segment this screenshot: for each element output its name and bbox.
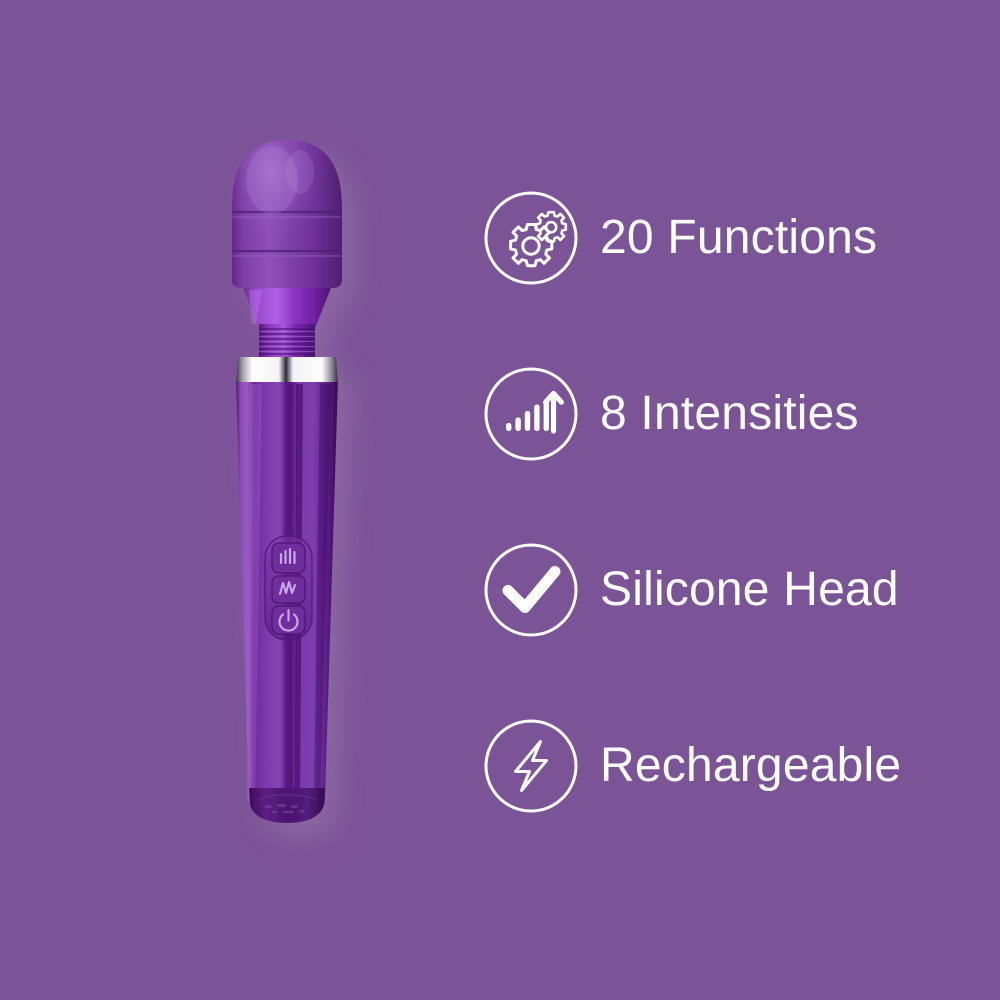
feature-label: Rechargeable: [600, 741, 901, 791]
wand-illustration: [0, 0, 560, 1000]
feature-label: 8 Intensities: [600, 389, 859, 439]
check-icon: [484, 543, 578, 637]
feature-item-rechargeable: Rechargeable: [484, 678, 984, 854]
feature-item-silicone-head: Silicone Head: [484, 502, 984, 678]
product-infographic: 20 Functions 8 Intensities: [0, 0, 1000, 1000]
lightning-bolt-icon: [484, 719, 578, 813]
control-panel: [265, 536, 312, 640]
mode-button: [272, 576, 305, 603]
intensity-button: [272, 543, 305, 573]
feature-label: Silicone Head: [600, 565, 899, 615]
bar-chart-up-icon: [484, 367, 578, 461]
feature-item-functions: 20 Functions: [484, 150, 984, 326]
wand-thread: [259, 324, 315, 358]
wand-base: [249, 788, 325, 823]
gears-icon: [484, 191, 578, 285]
wand-head: [232, 140, 342, 288]
feature-label: 20 Functions: [600, 213, 877, 263]
feature-list: 20 Functions 8 Intensities: [484, 150, 984, 854]
wand-chrome-ring: [236, 357, 338, 383]
product-image: [0, 0, 560, 1000]
feature-item-intensities: 8 Intensities: [484, 326, 984, 502]
